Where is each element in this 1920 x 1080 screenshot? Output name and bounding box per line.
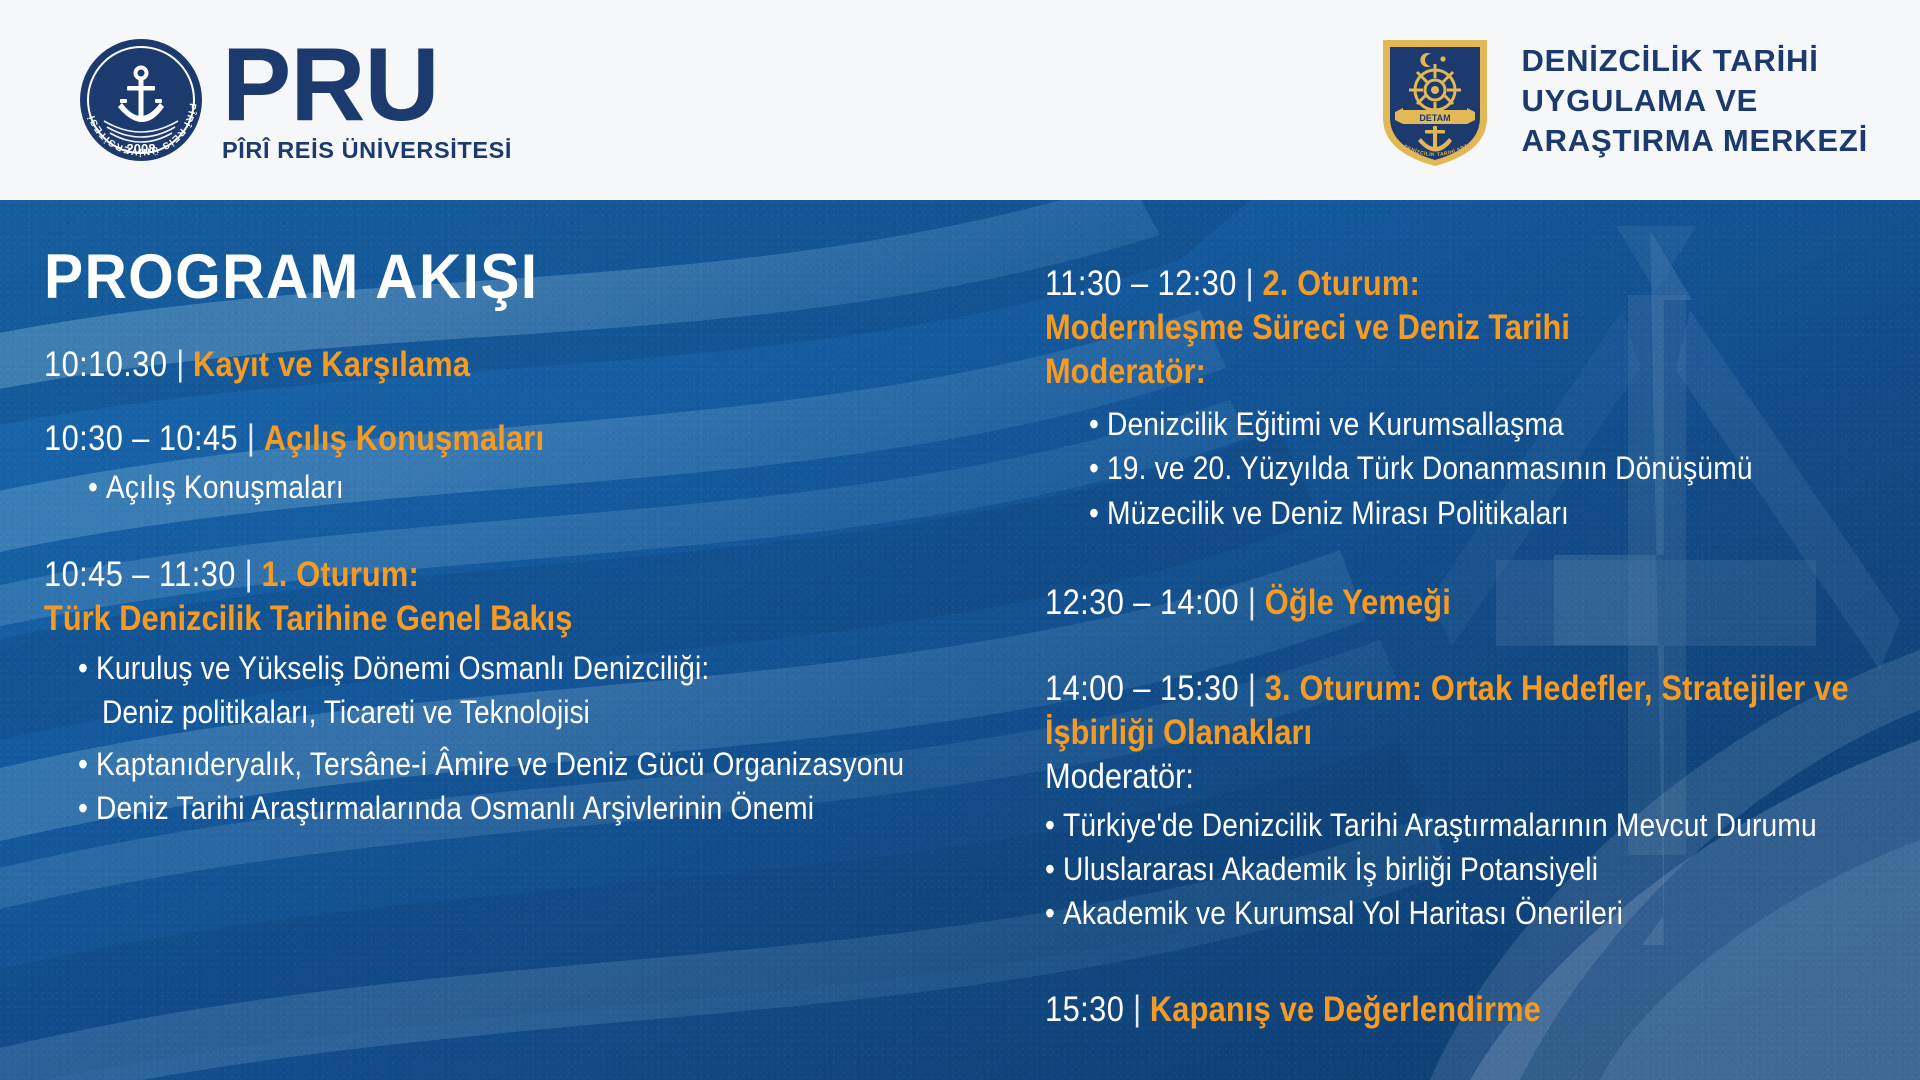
separator-bar: | [1239,668,1265,707]
page-title: PROGRAM AKIŞI [44,246,974,309]
list-item: •Deniz Tarihi Araştırmalarında Osmanlı A… [78,786,928,830]
bullet-icon: • [78,650,88,686]
separator-bar: | [1239,582,1265,621]
list-item: •19. ve 20. Yüzyılda Türk Donanmasının D… [1089,446,1803,490]
detam-line-3: ARAŞTIRMA MERKEZİ [1521,125,1868,156]
program-item-moderator: Moderatör: [1045,755,1797,799]
bullet-icon: • [1089,495,1099,531]
program-item-session-2: 11:30 – 12:30|2. Oturum: Modernleşme Sür… [1045,262,1900,535]
page-header: 2008 PÎRÎ REİS ÜNİVERSİTESİ PRU PÎRÎ REİ… [0,0,1920,200]
list-item-label: Kuruluş ve Yükseliş Dönemi Osmanlı Deniz… [96,650,709,686]
bullet-icon: • [1045,851,1055,887]
detam-logo: DETAM DENİZCİLİK TARİHİ ARAŞTIRMA MERKEZ… [1371,30,1868,170]
list-item-label: Açılış Konuşmaları [106,469,344,505]
list-item: •Denizcilik Eğitimi ve Kurumsallaşma [1089,402,1803,446]
list-item: •Türkiye'de Denizcilik Tarihi Araştırmal… [1045,803,1797,847]
program-item-subtitle: İşbirliği Olanakları [1045,711,1797,755]
pru-wordmark: PRU [222,38,512,134]
program-item-session: Öğle Yemeği [1265,583,1451,622]
program-item-time: 15:30 [1045,990,1124,1029]
detam-line-2: UYGULAMA VE [1521,85,1868,116]
program-item-bullets: •Açılış Konuşmaları [88,465,1044,509]
program-item-headline: 15:30|Kapanış ve Değerlendirme [1045,988,1797,1032]
list-item-label: Müzecilik ve Deniz Mirası Politikaları [1107,495,1569,531]
program-item-headline: 12:30 – 14:00|Öğle Yemeği [1045,581,1797,625]
program-item-session: Kayıt ve Karşılama [193,345,470,384]
bullet-icon: • [1089,450,1099,486]
separator-bar: | [1237,263,1263,302]
program-item-moderator: Moderatör: [1045,350,1797,394]
bullet-icon: • [78,746,88,782]
program-item-subtitle: Türk Denizcilik Tarihine Genel Bakış [44,597,924,641]
separator-bar: | [1124,989,1150,1028]
separator-bar: | [238,418,264,457]
program-item-bullets: •Kuruluş ve Yükseliş Dönemi Osmanlı Deni… [78,646,1044,690]
bullet-icon: • [1089,406,1099,442]
program-content: PROGRAM AKIŞI 10:10.30|Kayıt ve Karşılam… [0,200,1920,1080]
program-item-headline: 10:10.30|Kayıt ve Karşılama [44,343,924,387]
list-item-label: Akademik ve Kurumsal Yol Haritası Öneril… [1063,895,1623,931]
program-item-opening: 10:30 – 10:45|Açılış Konuşmaları •Açılış… [44,417,1044,509]
list-item: •Akademik ve Kurumsal Yol Haritası Öneri… [1045,891,1797,935]
program-item-time: 10:30 – 10:45 [44,419,238,458]
bullet-icon: • [78,790,88,826]
program-item-time: 10:10.30 [44,345,167,384]
list-item: •Açılış Konuşmaları [88,465,929,509]
program-item-session: 3. Oturum: Ortak Hedefler, Stratejiler v… [1265,669,1849,708]
pru-logo: 2008 PÎRÎ REİS ÜNİVERSİTESİ PRU PÎRÎ REİ… [78,37,512,163]
bullet-icon: • [88,469,98,505]
pru-wordmark-subtitle: PÎRÎ REİS ÜNİVERSİTESİ [222,139,512,163]
program-item-session: Kapanış ve Değerlendirme [1150,990,1541,1029]
program-item-headline: 14:00 – 15:30|3. Oturum: Ortak Hedefler,… [1045,667,1797,711]
program-item-headline: 10:30 – 10:45|Açılış Konuşmaları [44,417,924,461]
list-item: •Kaptanıderyalık, Tersâne-i Âmire ve Den… [78,742,928,786]
list-item-label: Deniz Tarihi Araştırmalarında Osmanlı Ar… [96,790,814,826]
bullet-icon: • [1045,807,1055,843]
program-item-time: 12:30 – 14:00 [1045,583,1239,622]
program-item-bullets: •Kaptanıderyalık, Tersâne-i Âmire ve Den… [78,742,1044,830]
ships-wheel-anchor-shield-icon: DETAM DENİZCİLİK TARİHİ ARAŞTIRMA MERKEZ… [1371,30,1499,170]
list-item-label: 19. ve 20. Yüzyılda Türk Donanmasının Dö… [1107,450,1753,486]
program-item-closing: 15:30|Kapanış ve Değerlendirme [1045,988,1900,1032]
program-item-bullets: •Türkiye'de Denizcilik Tarihi Araştırmal… [1045,803,1900,935]
program-item-time: 10:45 – 11:30 [44,555,236,594]
list-item-label: Türkiye'de Denizcilik Tarihi Araştırmala… [1063,807,1817,843]
program-item-registration: 10:10.30|Kayıt ve Karşılama [44,343,1044,387]
list-item: •Müzecilik ve Deniz Mirası Politikaları [1089,491,1803,535]
program-item-session-1: 10:45 – 11:30|1. Oturum: Türk Denizcilik… [44,553,1044,830]
program-item-headline: 11:30 – 12:30|2. Oturum: [1045,262,1797,306]
program-item-bullet-continuation: Deniz politikaları, Ticareti ve Teknoloj… [102,690,931,734]
program-item-bullets: •Denizcilik Eğitimi ve Kurumsallaşma •19… [1089,402,1900,534]
detam-line-1: DENİZCİLİK TARİHİ [1521,45,1868,76]
program-column-left: PROGRAM AKIŞI 10:10.30|Kayıt ve Karşılam… [44,200,1044,852]
program-item-subtitle: Modernleşme Süreci ve Deniz Tarihi [1045,306,1797,350]
program-item-session: Açılış Konuşmaları [264,419,544,458]
list-item-label: Kaptanıderyalık, Tersâne-i Âmire ve Deni… [96,746,904,782]
list-item-label: Uluslararası Akademik İş birliği Potansi… [1063,851,1598,887]
program-item-lunch: 12:30 – 14:00|Öğle Yemeği [1045,581,1900,625]
separator-bar: | [236,554,262,593]
program-item-session-3: 14:00 – 15:30|3. Oturum: Ortak Hedefler,… [1045,667,1900,936]
anchor-seal-icon: 2008 PÎRÎ REİS ÜNİVERSİTESİ [78,37,204,163]
separator-bar: | [167,344,193,383]
program-item-session: 1. Oturum: [261,555,418,594]
shield-abbr: DETAM [1420,113,1451,123]
list-item: •Uluslararası Akademik İş birliği Potans… [1045,847,1797,891]
bullet-icon: • [1045,895,1055,931]
program-column-right: 11:30 – 12:30|2. Oturum: Modernleşme Sür… [1045,200,1900,1054]
program-item-headline: 10:45 – 11:30|1. Oturum: [44,553,924,597]
list-item-label: Denizcilik Eğitimi ve Kurumsallaşma [1107,406,1564,442]
program-item-session: 2. Oturum: [1262,264,1419,303]
list-item: •Kuruluş ve Yükseliş Dönemi Osmanlı Deni… [78,646,928,690]
program-item-time: 14:00 – 15:30 [1045,669,1239,708]
program-item-time: 11:30 – 12:30 [1045,264,1237,303]
